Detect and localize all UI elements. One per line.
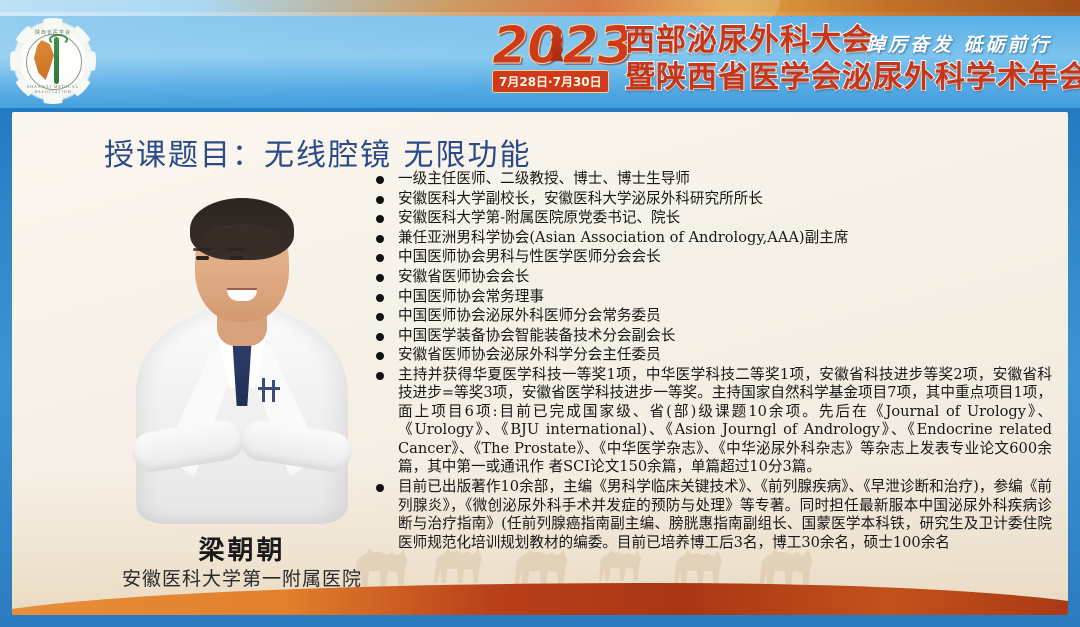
speaker-bio-list: 一级主任医师、二级教授、博士、博士生导师 安徽医科大学副校长，安徽医科大学泌尿外… xyxy=(370,170,1052,554)
list-item: 目前已出版著作10余部，主编《男科学临床关键技术》、《前列腺疾病》、《早泄诊断和… xyxy=(370,478,1052,552)
shaanxi-medical-association-emblem-icon: 陕西省医学会 SHAANXI MEDICAL ASSOCIATION xyxy=(14,22,92,100)
list-item: 中国医师协会泌尿外科医师分会常务委员 xyxy=(370,307,1052,326)
portrait-eye-left xyxy=(196,256,209,260)
conference-year: 2023 xyxy=(492,20,632,72)
conference-slogan: 踔厉奋发 砥砺前行 xyxy=(866,30,1052,57)
emblem-top-text: 陕西省医学会 xyxy=(14,29,92,36)
portrait-pocket-pens-icon xyxy=(256,378,290,404)
list-item: 安徽医科大学第-附属医院原党委书记、院长 xyxy=(370,209,1052,228)
list-item: 安徽省医师协会泌尿外科学分会主任委员 xyxy=(370,346,1052,365)
list-item: 中国医学装备协会智能装备技术分会副会长 xyxy=(370,327,1052,346)
conference-banner: 陕西省医学会 SHAANXI MEDICAL ASSOCIATION 2023 … xyxy=(0,0,1080,108)
presentation-slide: 陕西省医学会 SHAANXI MEDICAL ASSOCIATION 2023 … xyxy=(0,0,1080,627)
portrait-eyebrow-right xyxy=(227,248,245,251)
list-item: 安徽医科大学副校长，安徽医科大学泌尿外科研究所所长 xyxy=(370,190,1052,209)
conference-dates: 7月28日·7月30日 xyxy=(492,70,609,93)
emblem-bottom-text: SHAANXI MEDICAL ASSOCIATION xyxy=(14,84,92,94)
list-item: 安徽省医师协会会长 xyxy=(370,268,1052,287)
list-item: 兼任亚洲男科学协会(Asian Association of Andrology… xyxy=(370,229,1052,248)
list-item: 中国医师协会男科与性医学医师分会会长 xyxy=(370,248,1052,267)
conference-title-line-2: 暨陕西省医学会泌尿外科学术年会 xyxy=(625,59,1080,96)
speaker-portrait xyxy=(108,172,376,524)
portrait-eye-right xyxy=(230,256,243,260)
lecture-title: 授课题目：无线腔镜 无限功能 xyxy=(104,130,532,174)
list-item: 主持并获得华夏医学科技一等奖1项，中华医学科技二等奖1项，安徽省科技进步等奖2项… xyxy=(370,366,1052,476)
list-item: 中国医师协会常务理事 xyxy=(370,288,1052,307)
slide-content-card: 授课题目：无线腔镜 无限功能 梁朝朝 安徽医科大学第一附属医院 一级主任医师、二… xyxy=(12,112,1068,615)
year-block: 2023 7月28日·7月30日 xyxy=(492,20,632,96)
portrait-eyebrow-left xyxy=(193,248,211,251)
speaker-name: 梁朝朝 xyxy=(108,530,376,567)
list-item: 一级主任医师、二级教授、博士、博士生导师 xyxy=(370,170,1052,189)
emblem-asclepius-rod-icon xyxy=(54,37,59,84)
decorative-bottom-band xyxy=(12,575,1068,615)
